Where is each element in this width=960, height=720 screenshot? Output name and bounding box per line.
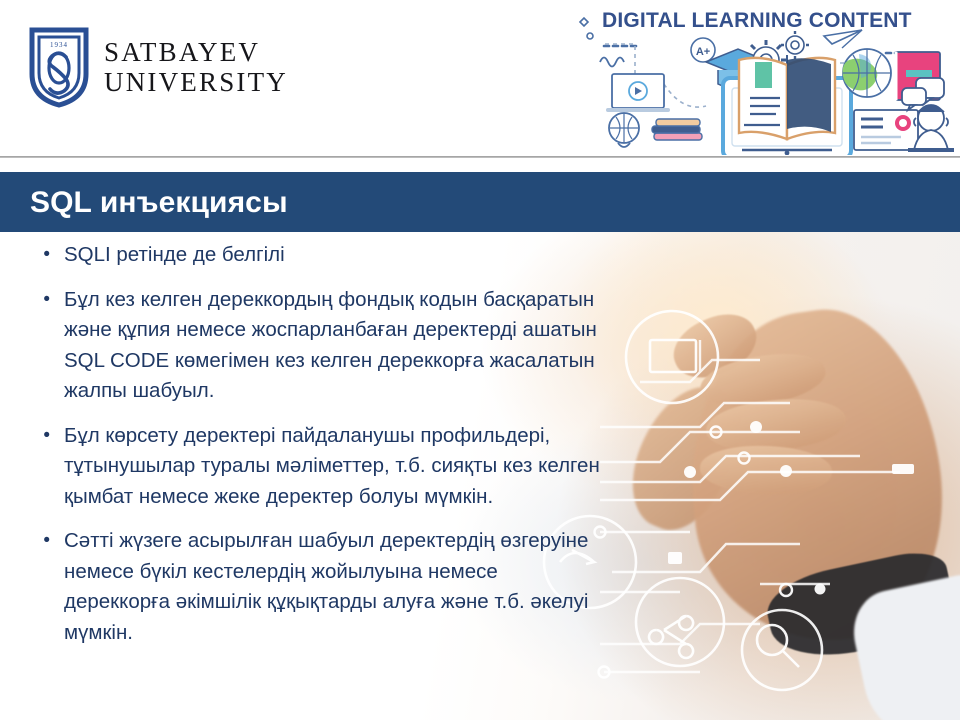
satbayev-logo: 1934 SATBAYEV UNIVERSITY [28,26,288,108]
bullet-text: Бұл көрсету деректері пайдаланушы профил… [50,421,620,513]
list-item: • Сәтті жүзеге асырылған шабуыл деректер… [0,526,620,648]
laptop-icon [606,74,670,112]
university-wordmark: SATBAYEV UNIVERSITY [104,39,288,96]
bullet-list: • SQLI ретінде де белгілі • Бұл кез келг… [0,240,620,662]
bullet-marker: • [0,421,50,513]
bullet-text: SQLI ретінде де белгілі [50,240,620,271]
globe-icon [843,49,891,97]
shield-year-text: 1934 [50,41,68,49]
list-item: • Бұл көрсету деректері пайдаланушы проф… [0,421,620,513]
bullet-text: Бұл кез келген дереккордың фондық кодын … [50,285,620,407]
bullet-marker: • [0,526,50,648]
books-stack-icon [652,119,702,140]
list-item: • Бұл кез келген дереккордың фондық коды… [0,285,620,407]
globe-stand-icon [609,113,639,147]
bullet-marker: • [0,285,50,407]
a-plus-badge-icon: A+ [691,38,715,62]
header-divider [0,156,960,158]
certificate-card-icon [854,110,918,150]
illustration-title: DIGITAL LEARNING CONTENT [602,9,912,33]
header: 1934 SATBAYEV UNIVERSITY DIGITAL LEARNIN… [0,0,960,155]
list-item: • SQLI ретінде де белгілі [0,240,620,271]
university-name-line1: SATBAYEV [104,39,288,66]
shield-icon: 1934 [28,26,90,108]
slide-title: SQL инъекциясы [30,186,288,220]
svg-text:A+: A+ [696,46,710,58]
slide: 1934 SATBAYEV UNIVERSITY DIGITAL LEARNIN… [0,0,960,720]
university-name-line2: UNIVERSITY [104,69,288,96]
monitor-book-icon [723,55,851,155]
digital-learning-illustration: DIGITAL LEARNING CONTENT [556,0,960,155]
bullet-text: Сәтті жүзеге асырылған шабуыл деректерді… [50,526,620,648]
bullet-marker: • [0,240,50,271]
